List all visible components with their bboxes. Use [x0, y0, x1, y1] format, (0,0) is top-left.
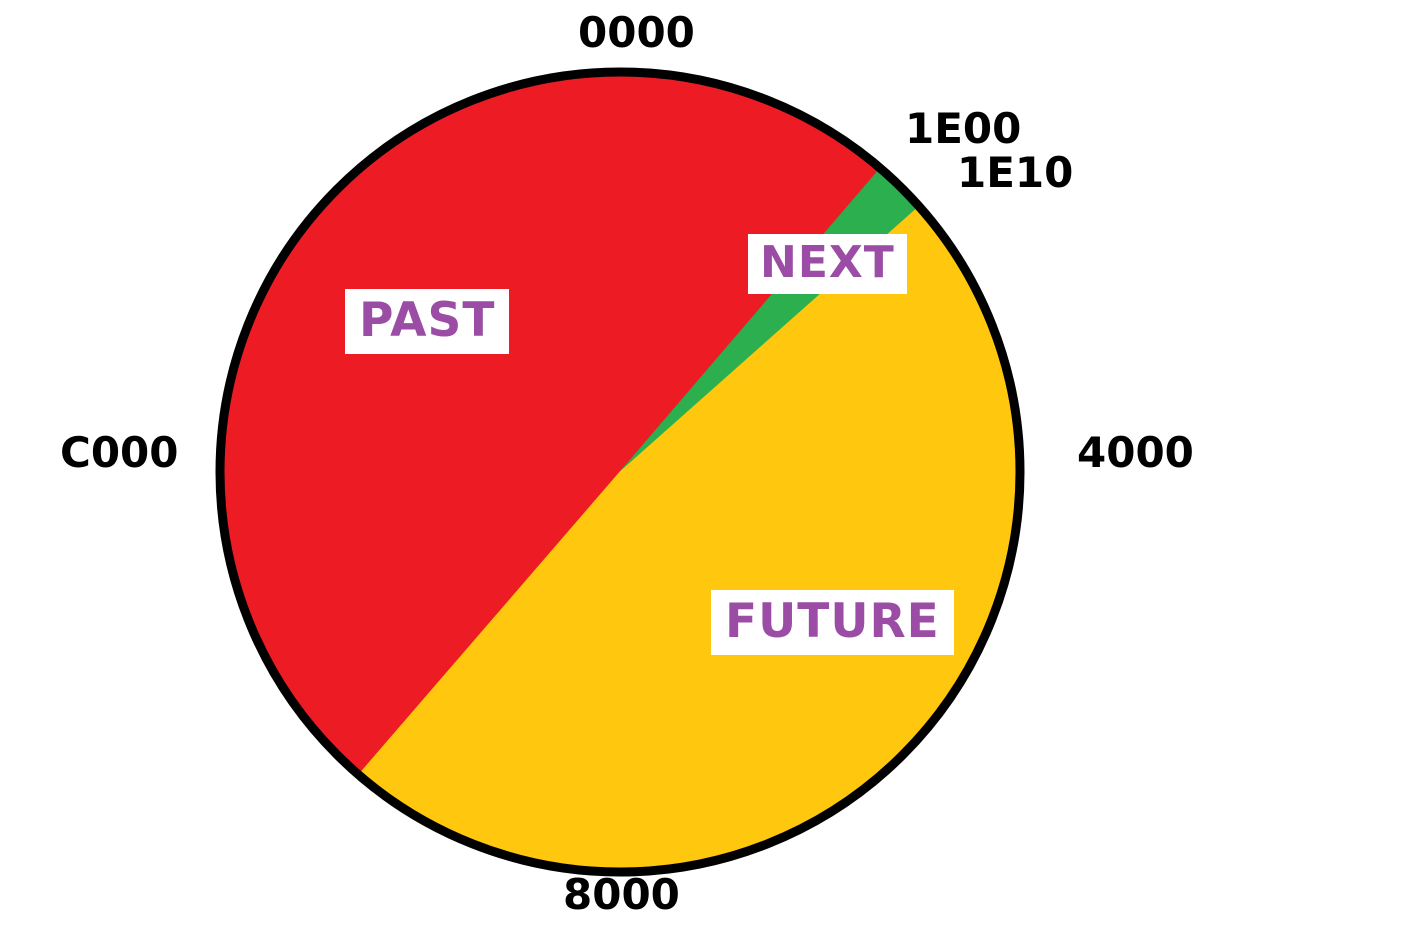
- tick-label-top: 0000: [578, 12, 695, 54]
- tick-label-bottom: 8000: [563, 874, 680, 916]
- tick-label-left: C000: [60, 432, 179, 474]
- sector-label-future: FUTURE: [711, 590, 954, 655]
- sector-label-past: PAST: [345, 289, 509, 354]
- tick-label-next-end: 1E10: [957, 152, 1073, 194]
- sector-label-next: NEXT: [748, 234, 907, 294]
- tick-label-next-start: 1E00: [905, 108, 1021, 150]
- tick-label-right: 4000: [1077, 432, 1194, 474]
- diagram-canvas: 0000 1E00 1E10 4000 8000 C000 PAST NEXT …: [0, 0, 1404, 949]
